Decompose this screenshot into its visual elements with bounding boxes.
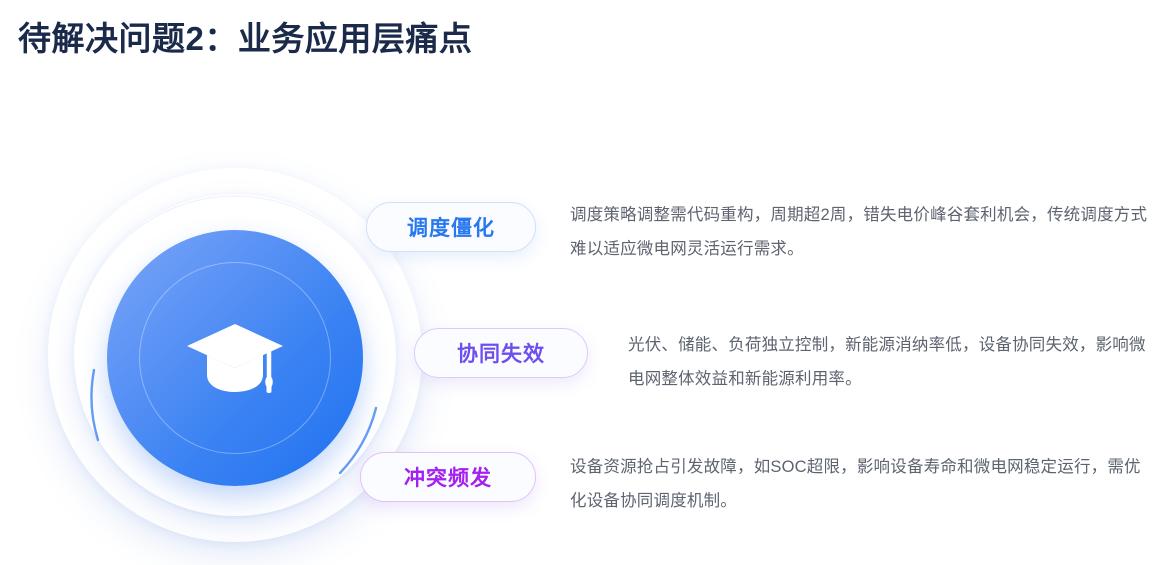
pill-label-3[interactable]: 冲突频发: [360, 452, 536, 502]
graduation-cap-icon: [183, 318, 287, 398]
page-title: 待解决问题2：业务应用层痛点: [18, 12, 472, 60]
description-text-3: 设备资源抢占引发故障，如SOC超限，影响设备寿命和微电网稳定运行，需优化设备协同…: [570, 450, 1150, 518]
description-text-2: 光伏、储能、负荷独立控制，新能源消纳率低，设备协同失效，影响微电网整体效益和新能…: [628, 328, 1150, 396]
pill-label-2[interactable]: 协同失效: [414, 328, 588, 378]
slide-canvas: 待解决问题2：业务应用层痛点 调度僵化 协同失效 冲突频发 调度策略调整: [0, 0, 1156, 565]
pill-label-1[interactable]: 调度僵化: [366, 202, 536, 252]
emblem-blue-circle: [107, 230, 363, 486]
description-text-1: 调度策略调整需代码重构，周期超2周，错失电价峰谷套利机会，传统调度方式难以适应微…: [570, 198, 1150, 266]
